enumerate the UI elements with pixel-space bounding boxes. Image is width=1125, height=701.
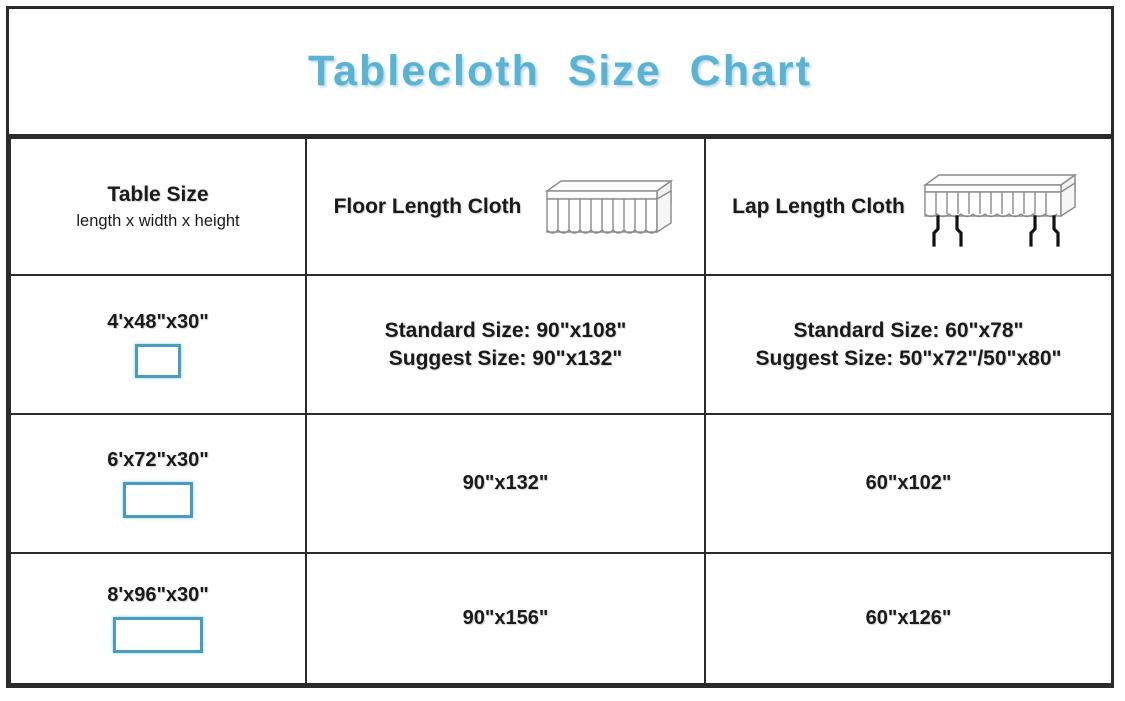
cell-floor-length: Standard Size: 90"x108" Suggest Size: 90… xyxy=(306,275,705,414)
header-floor-length-title: Floor Length Cloth xyxy=(334,195,522,219)
table-rectangle-small-icon xyxy=(135,344,181,378)
floor-suggest-size: Suggest Size: 90"x132" xyxy=(389,345,623,372)
table-size-label: 8'x96"x30" xyxy=(107,584,209,607)
header-table-size-title: Table Size xyxy=(107,182,208,208)
table-rectangle-large-icon xyxy=(113,617,203,653)
table-size-label: 6'x72"x30" xyxy=(107,449,209,472)
cell-table-size: 4'x48"x30" xyxy=(10,275,306,414)
cell-lap-length: 60"x126" xyxy=(705,553,1112,684)
table-row: 8'x96"x30" 90"x156" 60"x126" xyxy=(10,553,1112,684)
floor-size: 90"x132" xyxy=(463,472,549,494)
tablecloth-size-chart: Tablecloth Size Chart Table Size length … xyxy=(6,6,1114,688)
table-row: 4'x48"x30" Standard Size: 90"x108" Sugge… xyxy=(10,275,1112,414)
header-cell-table-size: Table Size length x width x height xyxy=(10,138,306,275)
lap-suggest-size: Suggest Size: 50"x72"/50"x80" xyxy=(756,345,1062,372)
table-header-row: Table Size length x width x height Floor… xyxy=(10,138,1112,275)
header-table-size-subtitle: length x width x height xyxy=(76,211,239,232)
cell-table-size: 8'x96"x30" xyxy=(10,553,306,684)
floor-standard-size: Standard Size: 90"x108" xyxy=(385,317,627,344)
lap-size: 60"x126" xyxy=(866,607,952,629)
table-rectangle-medium-icon xyxy=(123,482,193,518)
header-cell-floor-length: Floor Length Cloth xyxy=(306,138,705,275)
cell-floor-length: 90"x156" xyxy=(306,553,705,684)
lap-standard-size: Standard Size: 60"x78" xyxy=(793,317,1023,344)
lap-size: 60"x102" xyxy=(866,472,952,494)
page-title: Tablecloth Size Chart xyxy=(308,47,812,96)
cell-lap-length: 60"x102" xyxy=(705,414,1112,553)
table-size-label: 4'x48"x30" xyxy=(107,311,209,334)
lap-length-table-illustration xyxy=(909,165,1085,249)
cell-table-size: 6'x72"x30" xyxy=(10,414,306,553)
size-table: Table Size length x width x height Floor… xyxy=(9,137,1113,685)
table-row: 6'x72"x30" 90"x132" 60"x102" xyxy=(10,414,1112,553)
header-cell-lap-length: Lap Length Cloth xyxy=(705,138,1112,275)
floor-length-table-illustration xyxy=(525,169,677,245)
cell-lap-length: Standard Size: 60"x78" Suggest Size: 50"… xyxy=(705,275,1112,414)
header-lap-length-title: Lap Length Cloth xyxy=(732,195,905,219)
cell-floor-length: 90"x132" xyxy=(306,414,705,553)
chart-title-row: Tablecloth Size Chart xyxy=(9,9,1111,137)
floor-size: 90"x156" xyxy=(463,607,549,629)
